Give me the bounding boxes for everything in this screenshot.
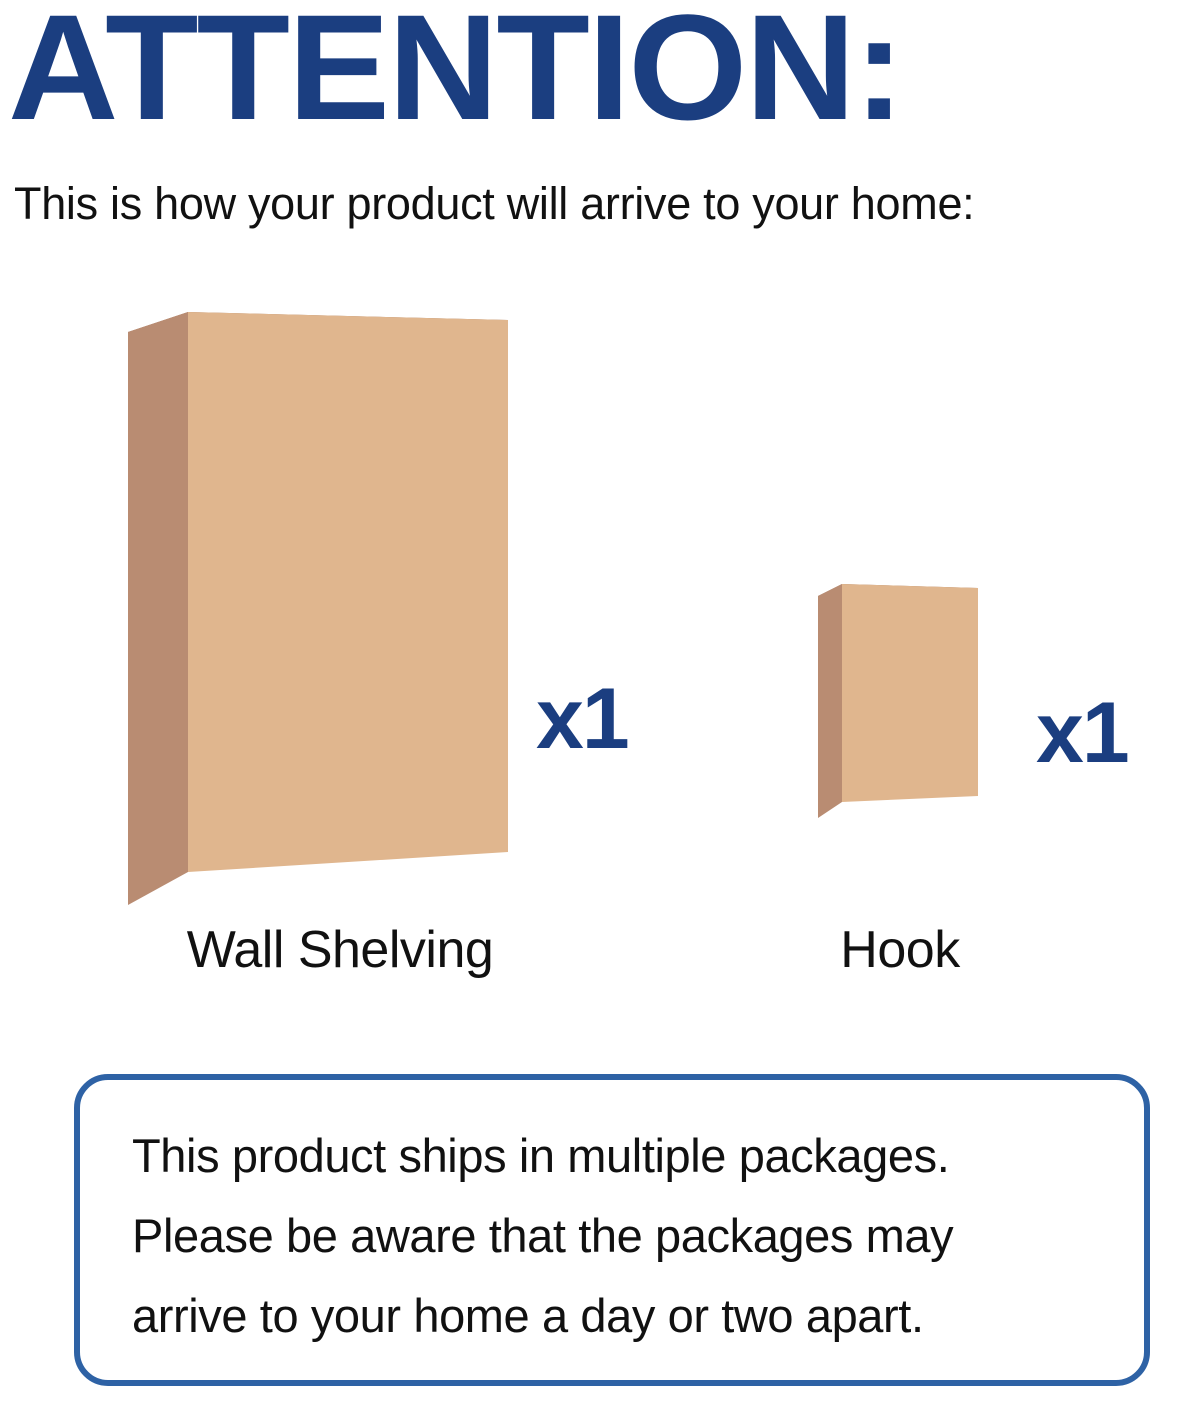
shipping-notice-text: This product ships in multiple packages.… (132, 1116, 1122, 1356)
cardboard-box-icon-large (118, 300, 518, 915)
package-illustration-wall-shelving (118, 300, 518, 915)
cardboard-box-icon-small (812, 578, 992, 828)
package-illustration-hook (812, 578, 992, 828)
subtitle-text: This is how your product will arrive to … (14, 178, 974, 230)
page-title: ATTENTION: (8, 0, 1179, 142)
shipping-notice-box: This product ships in multiple packages.… (74, 1074, 1150, 1386)
notice-line-2: Please be aware that the packages may (132, 1196, 1122, 1276)
quantity-label-hook: x1 (1036, 690, 1128, 776)
notice-line-3: arrive to your home a day or two apart. (132, 1276, 1122, 1356)
notice-line-1: This product ships in multiple packages. (132, 1116, 1122, 1196)
caption-wall-shelving: Wall Shelving (130, 920, 550, 980)
caption-hook: Hook (790, 920, 1010, 980)
quantity-label-wall-shelving: x1 (536, 676, 628, 762)
